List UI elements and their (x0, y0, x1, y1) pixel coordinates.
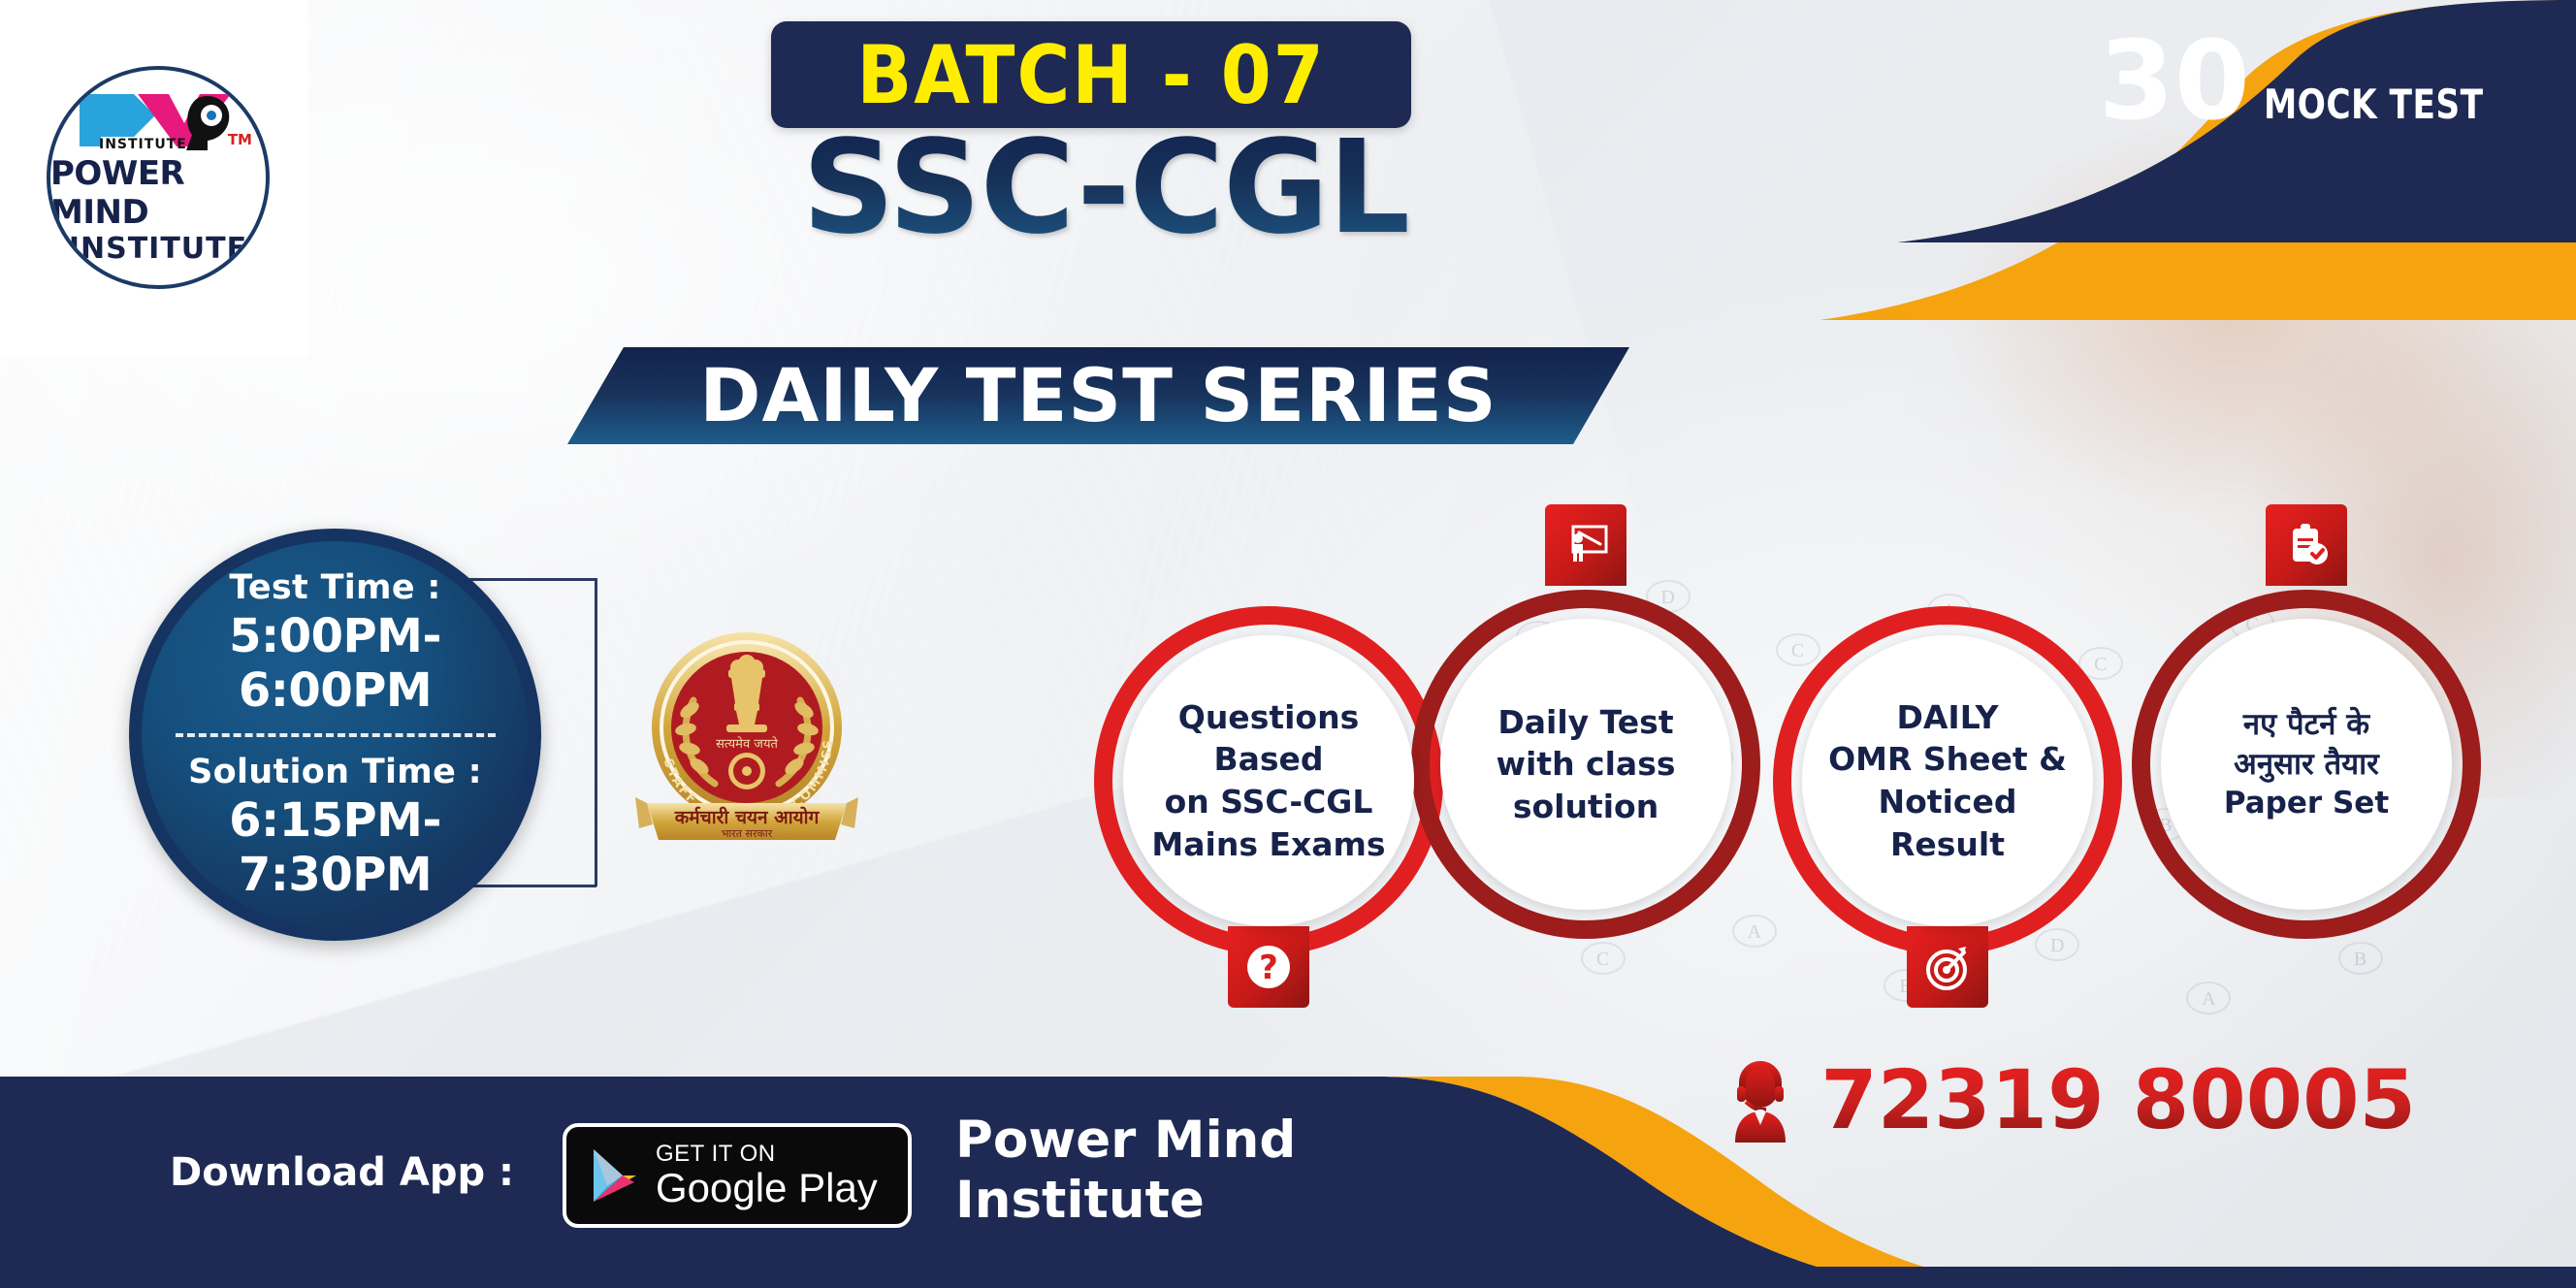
feature-1-line-4: Mains Exams (1151, 823, 1385, 866)
phone-number: 72319 80005 (1820, 1059, 2416, 1141)
feature-3-line-3: Noticed (1879, 781, 2017, 823)
question-mark-icon: ? (1242, 941, 1295, 993)
clipboard-check-icon (2280, 519, 2333, 571)
google-play-name: Google Play (656, 1167, 878, 1209)
schedule-divider (176, 733, 496, 737)
bracket-line-vertical (595, 578, 597, 886)
feature-4-line-2: अनुसार तैयार (2234, 745, 2379, 785)
feature-4-line-1: नए पैटर्न के (2243, 705, 2369, 745)
brand-name-line2: Institute (955, 1171, 1296, 1232)
series-label: DAILY TEST SERIES (699, 359, 1497, 433)
feature-3-line-4: Result (1890, 823, 2005, 866)
feature-2-line-1: Daily Test (1497, 701, 1673, 744)
feature-circle-1[interactable]: Questions Based on SSC-CGL Mains Exams (1123, 635, 1414, 926)
download-app-label: Download App : (170, 1150, 514, 1195)
brand-name: Power Mind Institute (955, 1111, 1296, 1232)
mock-test-count: 30 MOCK TEST (2099, 33, 2531, 131)
support-agent-icon (1722, 1057, 1799, 1143)
feature-circle-2[interactable]: Daily Test with class solution (1440, 619, 1731, 910)
target-icon-tab (1907, 926, 1988, 1008)
logo-institute-overlay: INSTITUTE (99, 137, 187, 152)
mock-count-value: 30 (2099, 33, 2250, 131)
test-time-value: 5:00PM-6:00PM (142, 609, 529, 718)
feature-2-line-3: solution (1513, 786, 1658, 828)
google-play-icon (588, 1146, 640, 1205)
emblem-ribbon-sub: भारत सरकार (722, 827, 773, 840)
feature-1-line-3: on SSC-CGL (1165, 781, 1373, 823)
contact-phone[interactable]: 72319 80005 (1722, 1057, 2416, 1143)
svg-text:?: ? (1259, 949, 1278, 987)
teacher-board-icon-tab (1545, 504, 1626, 586)
logo-tm-icon: TM (228, 131, 252, 148)
banner-canvas: BD CA CC AB DA BC CA BD AB INSTITUTE TM … (0, 0, 2576, 1288)
ssc-emblem: सत्यमेव जयते STAFF SELECTION COMMISSION … (635, 621, 858, 858)
feature-1-line-1: Questions (1178, 696, 1359, 739)
feature-1-line-2: Based (1213, 738, 1323, 781)
logo-name-line2: INSTITUTE (69, 232, 247, 266)
teacher-board-icon (1560, 519, 1612, 571)
google-play-badge[interactable]: GET IT ON Google Play (563, 1123, 912, 1228)
google-play-get-label: GET IT ON (656, 1142, 878, 1166)
feature-3-line-1: DAILY (1897, 696, 1999, 739)
series-ribbon: DAILY TEST SERIES (567, 347, 1629, 444)
brand-name-line1: Power Mind (955, 1111, 1296, 1172)
feature-4-line-3: Paper Set (2224, 784, 2389, 823)
question-mark-icon-tab: ? (1228, 926, 1309, 1008)
emblem-ribbon-hindi: कर्मचारी चयन आयोग (674, 806, 821, 828)
mock-count-label: MOCK TEST (2264, 80, 2484, 128)
feature-2-line-2: with class (1497, 743, 1676, 786)
feature-3-line-2: OMR Sheet & (1828, 738, 2067, 781)
batch-badge: BATCH - 07 (771, 21, 1411, 128)
schedule-circle: Test Time : 5:00PM-6:00PM Solution Time … (129, 529, 541, 941)
logo-badge[interactable]: INSTITUTE TM POWER MIND INSTITUTE (47, 66, 270, 289)
emblem-motto: सत्यमेव जयते (716, 736, 778, 752)
target-icon (1921, 941, 1974, 993)
logo-name-line1: POWER MIND (50, 154, 266, 232)
feature-circle-3[interactable]: DAILY OMR Sheet & Noticed Result (1802, 635, 2093, 926)
test-time-label: Test Time : (229, 568, 440, 607)
solution-time-label: Solution Time : (188, 753, 482, 791)
feature-circle-4[interactable]: नए पैटर्न के अनुसार तैयार Paper Set (2161, 619, 2452, 910)
batch-label: BATCH - 07 (856, 35, 1325, 115)
clipboard-check-icon-tab (2266, 504, 2347, 586)
solution-time-value: 6:15PM-7:30PM (142, 793, 529, 902)
page-title: SSC-CGL (679, 124, 1532, 253)
logo-mark: INSTITUTE TM (76, 90, 241, 150)
